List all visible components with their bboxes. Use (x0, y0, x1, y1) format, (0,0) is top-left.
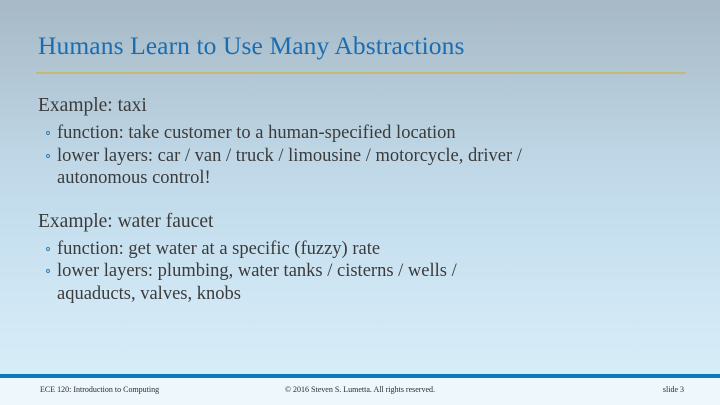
title-underline-rule (36, 72, 686, 74)
list-item-label: function: take customer to a human-speci… (57, 122, 527, 145)
hollow-circle-bullet-icon (46, 247, 50, 251)
hollow-circle-bullet-icon (46, 269, 50, 273)
group-heading: Example: taxi (38, 93, 720, 118)
bullet-group-water-faucet: Example: water faucet function: get wate… (0, 209, 720, 306)
slide-footer: ECE 120: Introduction to Computing © 201… (0, 378, 720, 405)
group-heading: Example: water faucet (38, 209, 720, 234)
slide-canvas: Humans Learn to Use Many Abstractions Ex… (0, 0, 720, 405)
spacer (0, 196, 720, 209)
slide-body: Example: taxi function: take customer to… (0, 93, 720, 311)
list-item-label: lower layers: car / van / truck / limous… (57, 145, 527, 190)
slide-title: Humans Learn to Use Many Abstractions (38, 30, 688, 62)
list-item: function: take customer to a human-speci… (46, 122, 527, 145)
footer-copyright-label: © 2016 Steven S. Lumetta. All rights res… (0, 385, 720, 394)
list-item-label: function: get water at a specific (fuzzy… (57, 238, 527, 261)
hollow-circle-bullet-icon (46, 131, 50, 135)
list-item: function: get water at a specific (fuzzy… (46, 238, 527, 261)
bullet-group-taxi: Example: taxi function: take customer to… (0, 93, 720, 190)
list-item-label: lower layers: plumbing, water tanks / ci… (57, 260, 527, 305)
hollow-circle-bullet-icon (46, 154, 50, 158)
list-item: lower layers: plumbing, water tanks / ci… (46, 260, 527, 305)
list-item: lower layers: car / van / truck / limous… (46, 145, 527, 190)
footer-slide-number: slide 3 (663, 385, 684, 394)
